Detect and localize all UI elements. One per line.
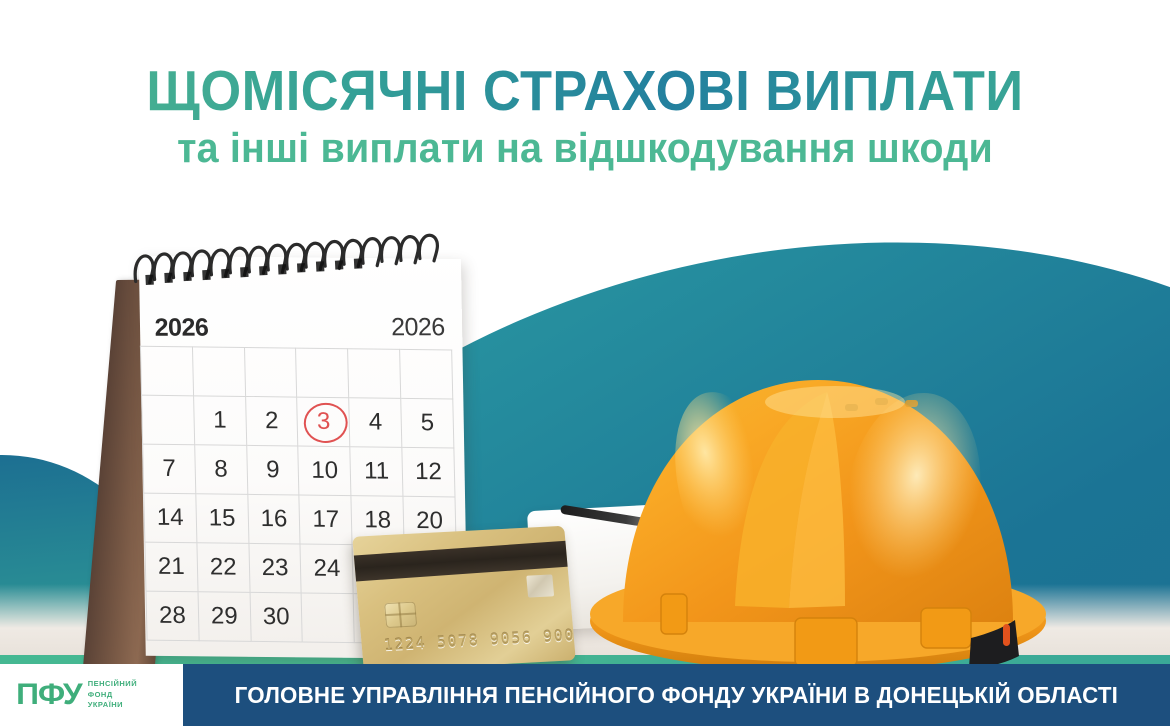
calendar-empty-cell	[192, 347, 245, 397]
pfu-logo-line-1: Пенсійний	[88, 679, 137, 690]
calendar-day-cell: 17	[299, 495, 352, 545]
calendar-day-cell: 30	[250, 592, 303, 642]
calendar-year-row: 2026 2026	[154, 313, 445, 342]
poster-canvas: ЩОМІСЯЧНІ СТРАХОВІ ВИПЛАТИ та інші випла…	[0, 0, 1170, 726]
calendar-day-cell: 22	[197, 543, 250, 593]
pfu-logo-mark: ПФУ	[16, 680, 81, 710]
calendar-empty-cell	[302, 593, 355, 643]
calendar-day-cell: 5	[401, 398, 454, 448]
pfu-logo-words: Пенсійний Фонд України	[88, 679, 137, 712]
pfu-logo-line-3: України	[88, 700, 137, 711]
calendar-week-row: 789101112	[143, 444, 455, 497]
calendar-empty-cell	[140, 346, 193, 396]
calendar-day-cell: 12	[402, 447, 455, 497]
calendar-day-cell: 7	[143, 444, 196, 494]
calendar-highlighted-day: 3	[317, 408, 331, 436]
calendar-day-cell: 4	[349, 398, 402, 448]
calendar-week-row	[140, 346, 452, 399]
calendar-day-cell: 9	[246, 445, 299, 495]
calendar-day-cell: 14	[144, 493, 197, 543]
card-hologram	[526, 574, 554, 597]
card-number: 1224 5078 9056 9004	[383, 626, 576, 655]
calendar-year-right: 2026	[391, 313, 445, 342]
calendar-day-cell: 23	[249, 543, 302, 593]
pfu-logo-line-2: Фонд	[88, 690, 137, 701]
page-title: ЩОМІСЯЧНІ СТРАХОВІ ВИПЛАТИ	[47, 62, 1123, 120]
calendar-day-cell: 21	[145, 542, 198, 592]
hard-hat-icon	[583, 356, 1053, 676]
calendar-empty-cell	[142, 395, 195, 445]
calendar-day-cell: 1	[193, 396, 246, 446]
calendar-week-row: 12345	[142, 395, 454, 448]
calendar-day-cell: 8	[195, 445, 248, 495]
calendar-empty-cell	[296, 348, 349, 398]
calendar-day-cell: 11	[350, 447, 403, 497]
calendar-empty-cell	[400, 349, 453, 399]
calendar-empty-cell	[244, 347, 297, 397]
footer-organization-text: ГОЛОВНЕ УПРАВЛІННЯ ПЕНСІЙНОГО ФОНДУ УКРА…	[235, 682, 1118, 709]
card-chip-icon	[384, 602, 417, 629]
page-subtitle: та інші виплати на відшкодування шкоди	[35, 126, 1135, 170]
calendar-day-cell: 10	[298, 446, 351, 496]
calendar-day-cell: 3	[297, 397, 350, 447]
calendar-day-cell: 24	[300, 544, 353, 594]
calendar-year-left: 2026	[154, 314, 208, 343]
calendar-day-cell: 15	[196, 494, 249, 544]
footer-bar: ГОЛОВНЕ УПРАВЛІННЯ ПЕНСІЙНОГО ФОНДУ УКРА…	[183, 664, 1170, 726]
pfu-logo: ПФУ Пенсійний Фонд України	[0, 664, 183, 726]
credit-card: 1224 5078 9056 9004	[352, 526, 576, 672]
calendar-day-cell: 16	[247, 494, 300, 544]
calendar-day-cell: 28	[146, 591, 199, 641]
calendar-day-cell: 2	[245, 396, 298, 446]
calendar-empty-cell	[348, 349, 401, 399]
title-block: ЩОМІСЯЧНІ СТРАХОВІ ВИПЛАТИ та інші випла…	[0, 62, 1170, 170]
calendar-day-cell: 29	[198, 592, 251, 642]
